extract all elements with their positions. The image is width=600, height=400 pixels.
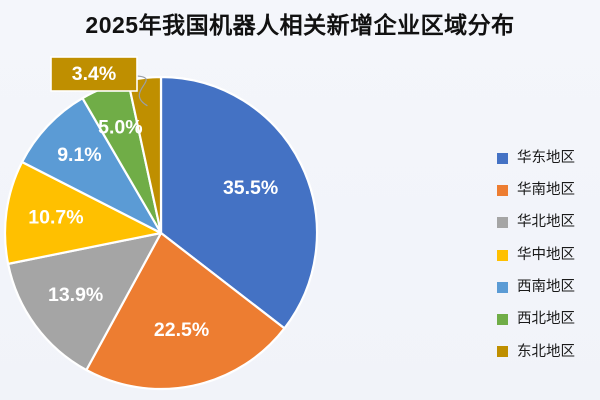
pie-svg: 35.5%22.5%13.9%10.7%9.1%5.0% 3.4% <box>0 52 470 400</box>
legend-item[interactable]: 华东地区 <box>497 142 597 174</box>
legend-item-label: 西南地区 <box>517 280 575 295</box>
legend-item[interactable]: 华北地区 <box>497 207 597 239</box>
chart-title: 2025年我国机器人相关新增企业区域分布 <box>0 8 600 42</box>
legend-item-label: 华中地区 <box>517 248 575 263</box>
pie-slice-value-label: 13.9% <box>48 284 103 306</box>
legend-swatch-icon <box>497 153 508 164</box>
pie-slices-group <box>5 77 317 389</box>
legend-item-label: 东北地区 <box>517 345 575 360</box>
legend-item-label: 西北地区 <box>517 312 575 327</box>
pie-chart-figure: 2025年我国机器人相关新增企业区域分布 35.5%22.5%13.9%10.7… <box>0 0 600 400</box>
pie-slice-value-label: 22.5% <box>154 319 209 341</box>
chart-legend: 华东地区华南地区华北地区华中地区西南地区西北地区东北地区 <box>497 142 597 368</box>
legend-item-label: 华南地区 <box>517 183 575 198</box>
legend-swatch-icon <box>497 217 508 228</box>
legend-item[interactable]: 华中地区 <box>497 239 597 271</box>
pie-slice-value-label: 9.1% <box>57 144 101 166</box>
pie-slice-value-label: 35.5% <box>223 177 278 199</box>
legend-swatch-icon <box>497 346 508 357</box>
legend-swatch-icon <box>497 185 508 196</box>
legend-item[interactable]: 东北地区 <box>497 336 597 368</box>
callout-value-label: 3.4% <box>72 63 116 85</box>
pie-slice-value-label: 5.0% <box>98 116 142 138</box>
legend-swatch-icon <box>497 314 508 325</box>
legend-item[interactable]: 华南地区 <box>497 174 597 206</box>
legend-item-label: 华北地区 <box>517 215 575 230</box>
legend-item[interactable]: 西北地区 <box>497 303 597 335</box>
legend-item[interactable]: 西南地区 <box>497 271 597 303</box>
legend-swatch-icon <box>497 282 508 293</box>
pie-slice-value-label: 10.7% <box>28 207 83 229</box>
legend-swatch-icon <box>497 250 508 261</box>
legend-item-label: 华东地区 <box>517 151 575 166</box>
callout-label-group: 3.4% <box>51 57 137 91</box>
pie-plot-area: 35.5%22.5%13.9%10.7%9.1%5.0% 3.4% <box>0 52 470 400</box>
